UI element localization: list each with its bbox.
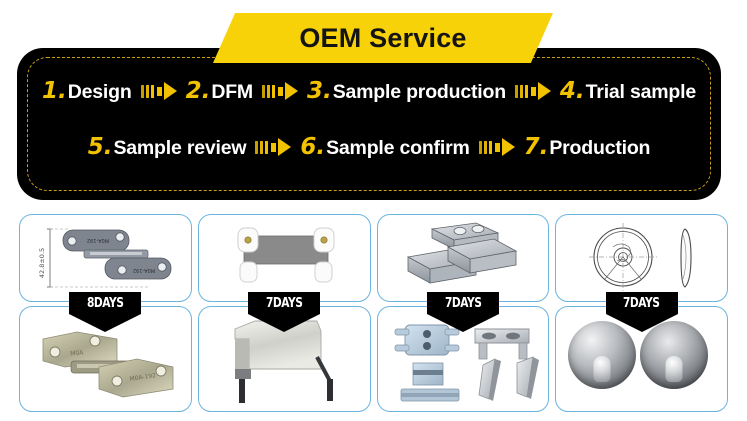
product-card-3[interactable]: 7DAYS <box>377 214 550 412</box>
process-steps-panel: 1.Design2.DFM3.Sample production4.Trial … <box>17 48 721 200</box>
process-step-sample-review: 5.Sample review <box>88 136 247 159</box>
step-number: 5. <box>88 136 113 159</box>
arrow-right-icon <box>255 138 291 156</box>
oem-service-banner: OEM Service <box>213 13 553 63</box>
step-label: Production <box>549 139 650 159</box>
cad-drawing-hinge-svg: 42.8±0.5 M0A-192 M0A-192 <box>30 217 180 299</box>
metal-disc-right <box>640 321 708 389</box>
photo-metal-discs <box>556 307 727 411</box>
svg-text:M0A-192: M0A-192 <box>133 267 155 273</box>
step-label: DFM <box>211 83 253 103</box>
process-step-production: 7.Production <box>524 136 651 159</box>
photo-metal-clips <box>378 307 549 411</box>
step-number: 7. <box>524 136 549 159</box>
process-step-design: 1.Design <box>42 80 132 103</box>
step-number: 6. <box>300 136 325 159</box>
cad-drawing-bracket <box>199 215 370 301</box>
svg-text:M0A-192: M0A-192 <box>87 237 109 243</box>
product-card-4[interactable]: 7DAYS <box>555 214 728 412</box>
card-2-cad-panel <box>198 214 371 302</box>
cad-drawing-disc-svg <box>567 217 717 299</box>
cad-drawing-disc <box>556 215 727 301</box>
step-number: 3. <box>307 80 332 103</box>
step-label: Sample confirm <box>326 139 470 159</box>
page-title: OEM Service <box>299 23 466 54</box>
photo-metal-bracket-svg <box>209 309 359 409</box>
photo-metal-bracket <box>199 307 370 411</box>
svg-text:42.8±0.5: 42.8±0.5 <box>38 248 46 278</box>
arrow-right-icon <box>262 82 298 100</box>
product-cards-row: 42.8±0.5 M0A-192 M0A-192 <box>19 214 728 412</box>
step-number: 2. <box>186 80 211 103</box>
product-card-2[interactable]: 7DAYS <box>198 214 371 412</box>
cad-drawing-channel <box>378 215 549 301</box>
step-number: 1. <box>42 80 67 103</box>
step-label: Sample production <box>333 83 506 103</box>
arrow-right-icon <box>479 138 515 156</box>
card-4-photo-panel <box>555 306 728 412</box>
step-label: Trial sample <box>586 83 696 103</box>
product-card-1[interactable]: 42.8±0.5 M0A-192 M0A-192 <box>19 214 192 412</box>
photo-metal-hinge-svg: M0A M0A-192 <box>25 309 185 409</box>
photo-metal-hinge: M0A M0A-192 <box>20 307 191 411</box>
process-step-dfm: 2.DFM <box>186 80 253 103</box>
process-steps-row-2: 5.Sample review6.Sample confirm7.Product… <box>17 132 721 162</box>
process-steps-row-1: 1.Design2.DFM3.Sample production4.Trial … <box>17 76 721 106</box>
svg-text:M0A: M0A <box>70 349 85 357</box>
process-step-trial-sample: 4.Trial sample <box>560 80 696 103</box>
arrow-right-icon <box>141 82 177 100</box>
step-label: Design <box>68 83 132 103</box>
card-1-cad-panel: 42.8±0.5 M0A-192 M0A-192 <box>19 214 192 302</box>
metal-disc-left <box>568 321 636 389</box>
card-2-photo-panel <box>198 306 371 412</box>
card-3-cad-panel <box>377 214 550 302</box>
step-number: 4. <box>560 80 585 103</box>
process-step-sample-confirm: 6.Sample confirm <box>300 136 469 159</box>
step-label: Sample review <box>113 139 246 159</box>
photo-metal-clips-svg <box>383 307 543 411</box>
card-3-photo-panel <box>377 306 550 412</box>
cad-drawing-bracket-svg <box>214 218 354 298</box>
arrow-right-icon <box>515 82 551 100</box>
cad-drawing-channel-svg <box>388 217 538 299</box>
card-1-photo-panel: M0A M0A-192 <box>19 306 192 412</box>
cad-drawing-hinge: 42.8±0.5 M0A-192 M0A-192 <box>20 215 191 301</box>
process-step-sample-production: 3.Sample production <box>307 80 506 103</box>
card-4-cad-panel <box>555 214 728 302</box>
